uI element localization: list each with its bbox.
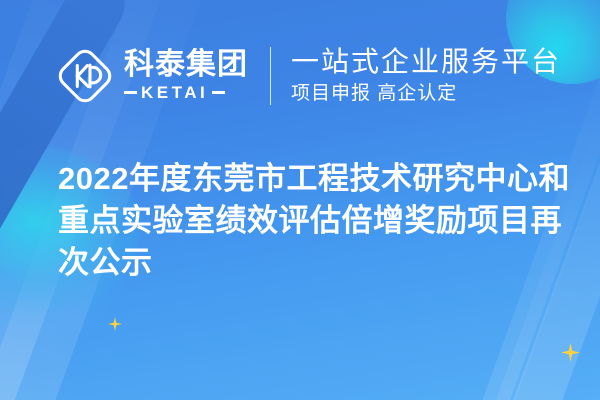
wordmark-rule-left (124, 91, 137, 94)
page-title: 2022年度东莞市工程技术研究中心和重点实验室绩效评估倍增奖励项目再次公示 (58, 158, 578, 284)
wordmark-rule-right (212, 91, 225, 94)
ketai-diamond-monogram-logo (56, 47, 114, 105)
vertical-divider (270, 47, 271, 105)
tagline-sub: 项目申报 高企认定 (291, 81, 561, 107)
tagline-block: 一站式企业服务平台 项目申报 高企认定 (291, 45, 561, 107)
company-name-en-row: KETAI (124, 83, 248, 103)
company-name-cn: 科泰集团 (124, 49, 248, 81)
tagline-main: 一站式企业服务平台 (291, 45, 561, 79)
sparkle-icon (561, 343, 580, 362)
wordmark: 科泰集团 KETAI (124, 49, 248, 103)
sparkle-icon (108, 317, 122, 331)
company-name-en: KETAI (141, 83, 208, 103)
banner-header: 科泰集团 KETAI 一站式企业服务平台 项目申报 高企认定 (0, 36, 600, 116)
promo-banner: 科泰集团 KETAI 一站式企业服务平台 项目申报 高企认定 2022年度东莞市… (0, 0, 600, 400)
